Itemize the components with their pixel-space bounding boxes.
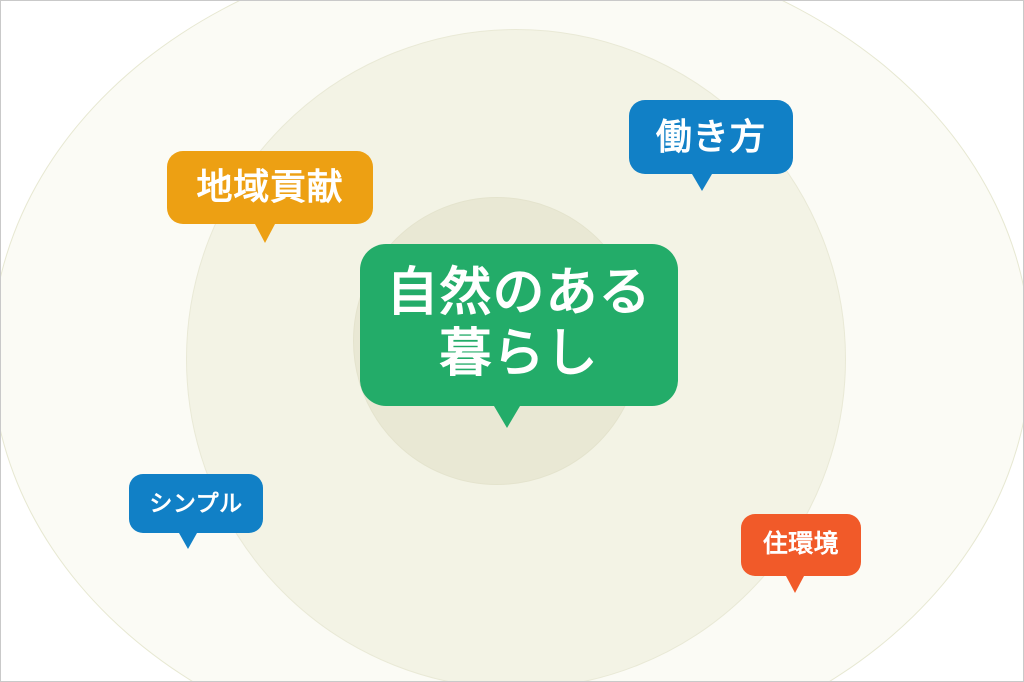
speech-bubble-community-contribution[interactable]: 地域貢献 bbox=[167, 151, 373, 224]
infographic-canvas: 自然のある 暮らし 働き方 地域貢献 シンプル 住環境 bbox=[0, 0, 1024, 682]
speech-bubble-tail bbox=[179, 533, 197, 549]
core-theme-line-2: 暮らし bbox=[439, 325, 598, 383]
speech-bubble-tail bbox=[786, 576, 804, 593]
speech-bubble-tail bbox=[255, 224, 275, 243]
speech-bubble-work-style[interactable]: 働き方 bbox=[629, 100, 793, 174]
speech-bubble-tail bbox=[494, 406, 520, 428]
core-theme-line-1: 自然のある bbox=[386, 264, 651, 322]
speech-bubble-living-environment-label: 住環境 bbox=[763, 530, 840, 560]
speech-bubble-tail bbox=[692, 174, 712, 191]
speech-bubble-simple[interactable]: シンプル bbox=[129, 474, 263, 533]
speech-bubble-core-theme[interactable]: 自然のある 暮らし bbox=[360, 244, 678, 406]
speech-bubble-community-contribution-label: 地域貢献 bbox=[197, 166, 344, 208]
speech-bubble-core-theme-label: 自然のある 暮らし bbox=[386, 263, 651, 386]
speech-bubble-simple-label: シンプル bbox=[149, 490, 242, 517]
speech-bubble-work-style-label: 働き方 bbox=[656, 116, 766, 158]
speech-bubble-living-environment[interactable]: 住環境 bbox=[741, 514, 861, 576]
